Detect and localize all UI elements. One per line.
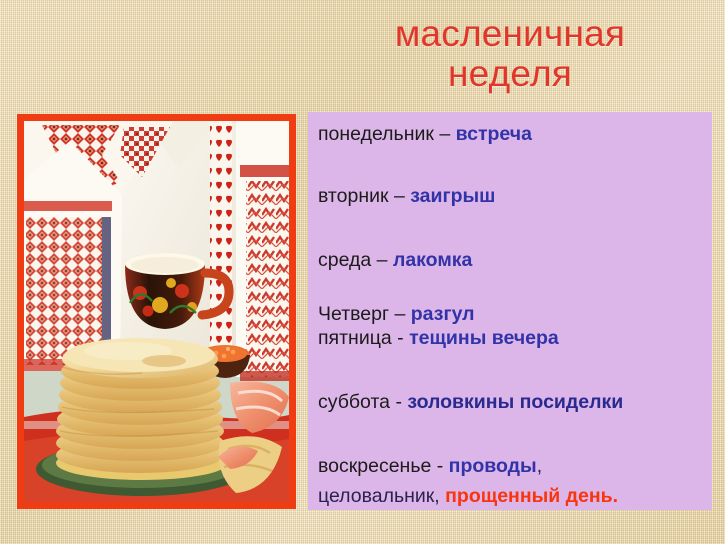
sunday-period: .: [613, 485, 618, 507]
maslenitsa-photo: [24, 121, 289, 502]
day-term-sunday: проводы: [449, 455, 537, 477]
day-term-saturday: золовкины посиделки: [407, 391, 623, 413]
dash-tuesday: –: [389, 185, 411, 207]
photo-frame: [17, 114, 296, 509]
day-row-sunday-continued: целовальник, прощенный день.: [318, 484, 706, 508]
day-name-wednesday: среда: [318, 249, 371, 271]
spacer: [318, 350, 706, 390]
dash-wednesday: –: [371, 249, 393, 271]
day-name-friday: пятница: [318, 327, 392, 349]
day-row-wednesday: среда – лакомка: [318, 248, 706, 272]
dash-sunday: -: [431, 455, 448, 477]
day-row-sunday: воскресенье - проводы,: [318, 454, 706, 478]
dash-saturday: -: [390, 391, 407, 413]
dash-thursday: –: [389, 303, 411, 325]
day-name-thursday: Четверг: [318, 303, 389, 325]
title-line-1: масленичная: [395, 13, 625, 54]
day-term-wednesday: лакомка: [393, 249, 472, 271]
title-line-2: неделя: [300, 54, 720, 94]
slide-canvas: масленичная неделя: [0, 0, 725, 544]
day-term-friday: тещины вечера: [409, 327, 559, 349]
comma-sunday: ,: [537, 455, 542, 477]
page-title: масленичная неделя: [300, 14, 720, 94]
spacer: [318, 146, 706, 184]
day-name-saturday: суббота: [318, 391, 390, 413]
day-term-thursday: разгул: [411, 303, 475, 325]
spacer: [318, 208, 706, 248]
day-name-sunday: воскресенье: [318, 455, 431, 477]
maslenitsa-days-panel: понедельник – встреча вторник – заигрыш …: [308, 112, 712, 510]
sunday-alt-name: целовальник,: [318, 485, 445, 507]
spacer: [318, 272, 706, 302]
day-row-friday: пятница - тещины вечера: [318, 326, 706, 350]
day-term-monday: встреча: [456, 123, 532, 145]
dash-friday: -: [392, 327, 409, 349]
day-name-tuesday: вторник: [318, 185, 389, 207]
sunday-forgiveness-day: прощенный день: [445, 485, 613, 507]
dash-monday: –: [434, 123, 456, 145]
day-row-monday: понедельник – встреча: [318, 122, 706, 146]
photo-illustration: [24, 121, 289, 502]
day-row-saturday: суббота - золовкины посиделки: [318, 390, 706, 414]
spacer: [318, 414, 706, 454]
day-name-monday: понедельник: [318, 123, 434, 145]
day-row-thursday: Четверг – разгул: [318, 302, 706, 326]
day-term-tuesday: заигрыш: [410, 185, 495, 207]
day-row-tuesday: вторник – заигрыш: [318, 184, 706, 208]
